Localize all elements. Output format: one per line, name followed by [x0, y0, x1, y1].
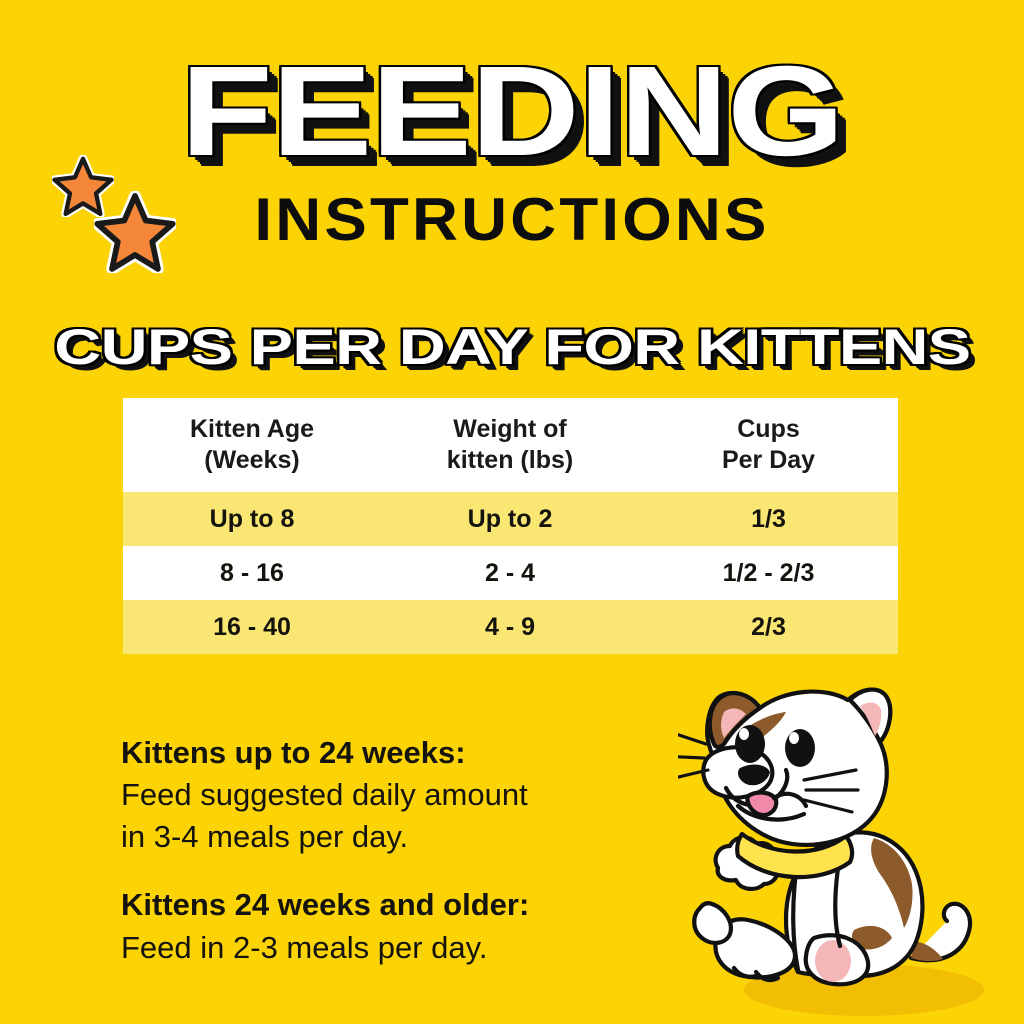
table-header-row: Kitten Age (Weeks) Weight of kitten (lbs…: [123, 398, 898, 492]
note-body-line1: Feed in 2-3 meals per day.: [121, 927, 681, 969]
feeding-table: Kitten Age (Weeks) Weight of kitten (lbs…: [123, 398, 898, 654]
column-header-line1: Cups: [639, 414, 898, 445]
cell-cups: 1/3: [639, 492, 898, 546]
column-header-line2: Per Day: [639, 445, 898, 476]
cat-left-eye-highlight: [739, 728, 749, 740]
cat-whiskers-left: [678, 730, 708, 780]
cat-right-eye: [785, 729, 815, 767]
cat-body-group: [678, 690, 970, 985]
column-header-line1: Kitten Age: [123, 414, 381, 445]
subtitle-text: INSTRUCTIONS: [254, 190, 769, 250]
cell-cups: 2/3: [639, 600, 898, 654]
column-header-kitten-age: Kitten Age (Weeks): [123, 398, 381, 492]
cat-left-eye: [735, 725, 765, 763]
table-row: 8 - 16 2 - 4 1/2 - 2/3: [123, 546, 898, 600]
feeding-notes: Kittens up to 24 weeks: Feed suggested d…: [121, 732, 681, 969]
cat-raised-paw: [694, 903, 731, 943]
cat-paw-pad: [815, 940, 851, 982]
note-body-line2: in 3-4 meals per day.: [121, 816, 681, 858]
cell-weight: 4 - 9: [381, 600, 639, 654]
column-header-line2: kitten (lbs): [381, 445, 639, 476]
cell-kitten-age: 16 - 40: [123, 600, 381, 654]
cat-tongue: [747, 793, 776, 816]
table-row: 16 - 40 4 - 9 2/3: [123, 600, 898, 654]
section-heading-text: CUPS PER DAY FOR KITTENS: [54, 322, 970, 372]
section-heading: CUPS PER DAY FOR KITTENS: [0, 322, 1024, 372]
title-text: FEEDING: [180, 48, 843, 176]
note-title: Kittens 24 weeks and older:: [121, 884, 681, 926]
note-body-line1: Feed suggested daily amount: [121, 774, 681, 816]
column-header-weight: Weight of kitten (lbs): [381, 398, 639, 492]
column-header-line2: (Weeks): [123, 445, 381, 476]
note-block-young-kittens: Kittens up to 24 weeks: Feed suggested d…: [121, 732, 681, 858]
column-header-line1: Weight of: [381, 414, 639, 445]
note-title: Kittens up to 24 weeks:: [121, 732, 681, 774]
table-row: Up to 8 Up to 2 1/3: [123, 492, 898, 546]
note-block-older-kittens: Kittens 24 weeks and older: Feed in 2-3 …: [121, 884, 681, 968]
column-header-cups: Cups Per Day: [639, 398, 898, 492]
cell-weight: Up to 2: [381, 492, 639, 546]
cell-kitten-age: Up to 8: [123, 492, 381, 546]
cell-weight: 2 - 4: [381, 546, 639, 600]
cell-cups: 1/2 - 2/3: [639, 546, 898, 600]
page-subtitle: INSTRUCTIONS: [0, 190, 1024, 250]
kitten-illustration: [678, 672, 1024, 1024]
cat-right-eye-highlight: [789, 732, 799, 744]
cell-kitten-age: 8 - 16: [123, 546, 381, 600]
feeding-instructions-poster: FEEDING INSTRUCTIONS CUPS PER DAY FOR KI…: [0, 0, 1024, 1024]
page-title: FEEDING: [0, 48, 1024, 176]
